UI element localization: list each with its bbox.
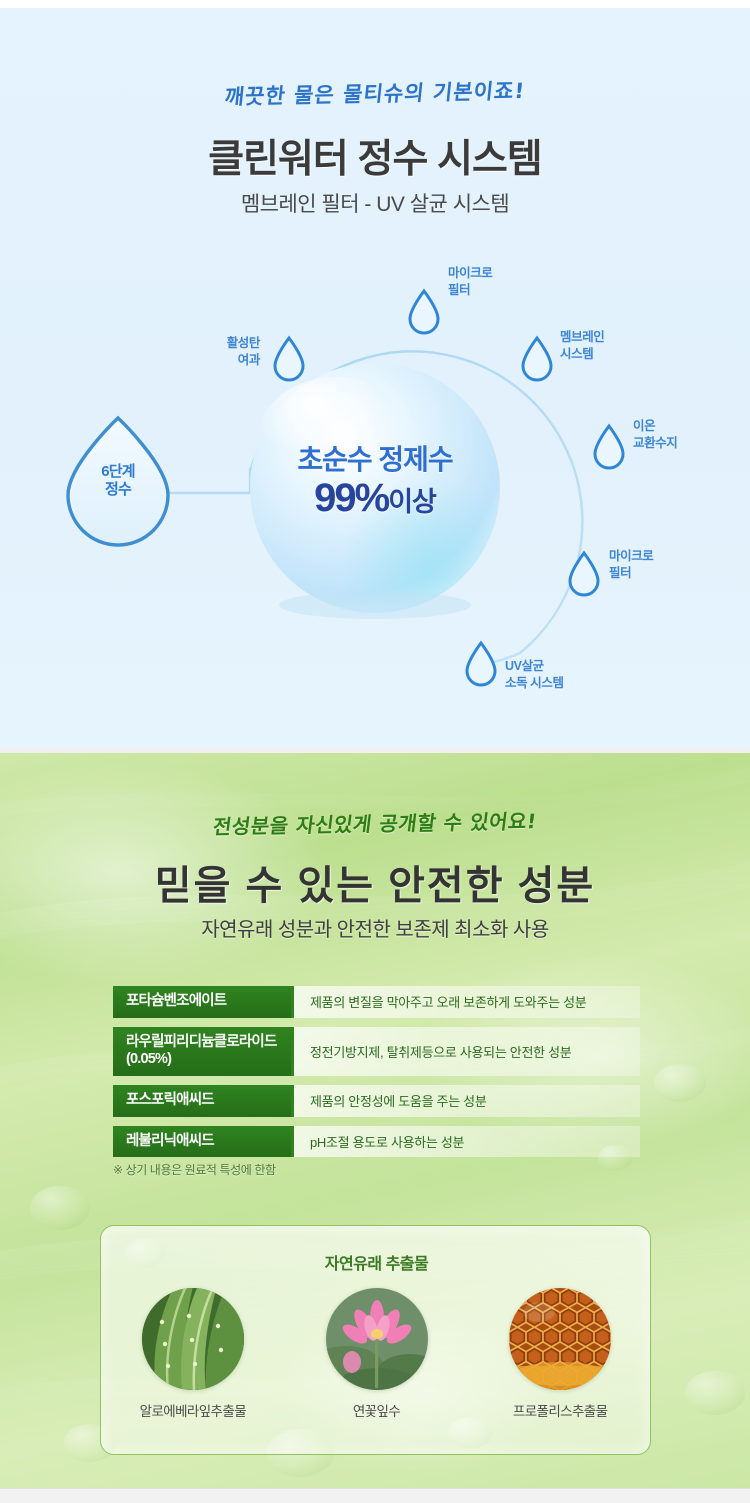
ingredient-name: 포스포릭애씨드 [113,1085,291,1117]
table-row: 레불리닉애씨드 pH조절 용도로 사용하는 성분 [113,1126,640,1158]
table-row: 포스포릭애씨드 제품의 안정성에 도움을 주는 성분 [113,1085,640,1117]
safe-ingredient-section: 전성분을 자신있게 공개할 수 있어요! 믿을 수 있는 안전한 성분 자연유래… [0,753,750,1488]
top-white-strip [0,0,750,8]
water-script-headline: 깨끗한 물은 물티슈의 기본이죠! [0,70,750,116]
lotus-flower-photo [326,1288,428,1390]
footer-strip [0,1488,750,1503]
ingredient-table: 포타슘벤조에이트 제품의 변질을 막아주고 오래 보존하게 도와주는 성분 라우… [113,986,640,1166]
green-main-title: 믿을 수 있는 안전한 성분 [0,853,750,911]
list-item: 연꽃잎수 [285,1288,469,1420]
natural-extract-card: 자연유래 추출물 [100,1225,651,1455]
step-label-micro-filter-1: 마이크로 필터 [448,265,492,298]
stage-drop-line2: 정수 [82,481,154,499]
ingredient-description: 제품의 변질을 막아주고 오래 보존하게 도와주는 성분 [291,986,640,1018]
step-label-micro-filter-2: 마이크로 필터 [609,548,653,581]
step-label-ion-exchange-resin: 이온 교환수지 [633,418,677,451]
step-label-uv-sterilization: UV살균 소독 시스템 [505,658,564,691]
stage-drop-line1: 6단계 [82,463,154,481]
extract-caption: 알로에베라잎추출물 [101,1400,285,1420]
ingredient-description: 정전기방지제, 탈취제등으로 사용되는 안전한 성분 [291,1027,640,1076]
ingredient-name: 레불리닉애씨드 [113,1126,291,1158]
clean-water-section: 깨끗한 물은 물티슈의 기본이죠! 클린워터 정수 시스템 멤브레인 필터 - … [0,8,750,748]
ingredient-footnote: ※ 상기 내용은 원료적 특성에 한함 [113,1161,276,1178]
extract-caption: 프로폴리스추출물 [468,1400,652,1420]
ingredient-name: 라우릴피리디늄클로라이드 (0.05%) [113,1027,291,1076]
step-label-membrane-system: 멤브레인 시스템 [560,329,604,362]
honeycomb-propolis-photo [509,1288,611,1390]
extract-card-title: 자연유래 추출물 [101,1250,652,1274]
stage-drop-label: 6단계 정수 [82,463,154,499]
water-main-title: 클린워터 정수 시스템 [0,128,750,184]
table-row: 포타슘벤조에이트 제품의 변질을 막아주고 오래 보존하게 도와주는 성분 [113,986,640,1018]
step-label-activated-carbon: 활성탄 여과 [150,335,260,368]
ingredient-description: 제품의 안정성에 도움을 주는 성분 [291,1085,640,1117]
aloe-leaf-photo [142,1288,244,1390]
green-subtitle: 자연유래 성분과 안전한 보존제 최소화 사용 [0,913,750,942]
water-subtitle: 멤브레인 필터 - UV 살균 시스템 [0,188,750,218]
list-item: 프로폴리스추출물 [468,1288,652,1420]
extract-caption: 연꽃잎수 [285,1400,469,1420]
extract-items: 알로에베라잎추출물 [101,1288,652,1420]
ingredient-description: pH조절 용도로 사용하는 성분 [291,1126,640,1158]
ingredient-name: 포타슘벤조에이트 [113,986,291,1018]
list-item: 알로에베라잎추출물 [101,1288,285,1420]
table-row: 라우릴피리디늄클로라이드 (0.05%) 정전기방지제, 탈취제등으로 사용되는… [113,1027,640,1076]
